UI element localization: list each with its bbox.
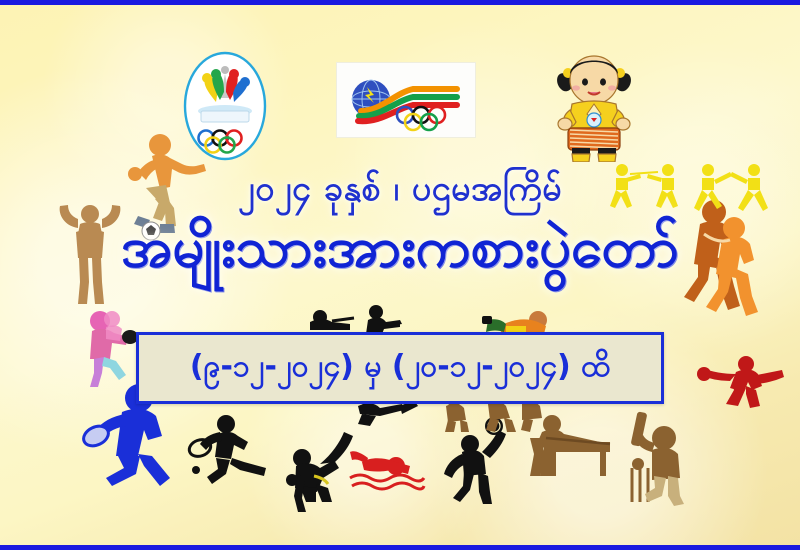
poster-top-border: [0, 0, 800, 5]
athlete-jogger: [284, 472, 320, 512]
festival-mascot-icon: [546, 40, 642, 162]
athlete-swimming: [344, 446, 430, 498]
date-range-text: (၉-၁၂-၂၀၂၄) မှ (၂၀-၁၂-၂၀၂၄) ထိ: [190, 346, 610, 391]
date-range-box: (၉-၁၂-၂၀၂၄) မှ (၂၀-၁၂-၂၀၂၄) ထိ: [136, 332, 664, 404]
poster-bottom-border: [0, 545, 800, 550]
athlete-tennis: [186, 412, 278, 488]
athlete-cricket: [608, 406, 698, 508]
poster-subtitle: ၂၀၂၄ ခုနှစ် ၊ ပဌမအကြိမ်: [0, 166, 800, 217]
athlete-shooting: [306, 308, 356, 334]
myanmar-national-sports-festival-emblem-icon: [176, 50, 274, 162]
sports-festival-poster: ၂၀၂၄ ခုနှစ် ၊ ပဌမအကြိမ် အမျိုးသားအားကစား…: [0, 0, 800, 550]
olympic-council-emblem-icon: [336, 62, 476, 138]
poster-title: အမျိုးသားအားကစားပွဲတော်: [0, 212, 800, 294]
athlete-football-kick: [696, 352, 786, 408]
